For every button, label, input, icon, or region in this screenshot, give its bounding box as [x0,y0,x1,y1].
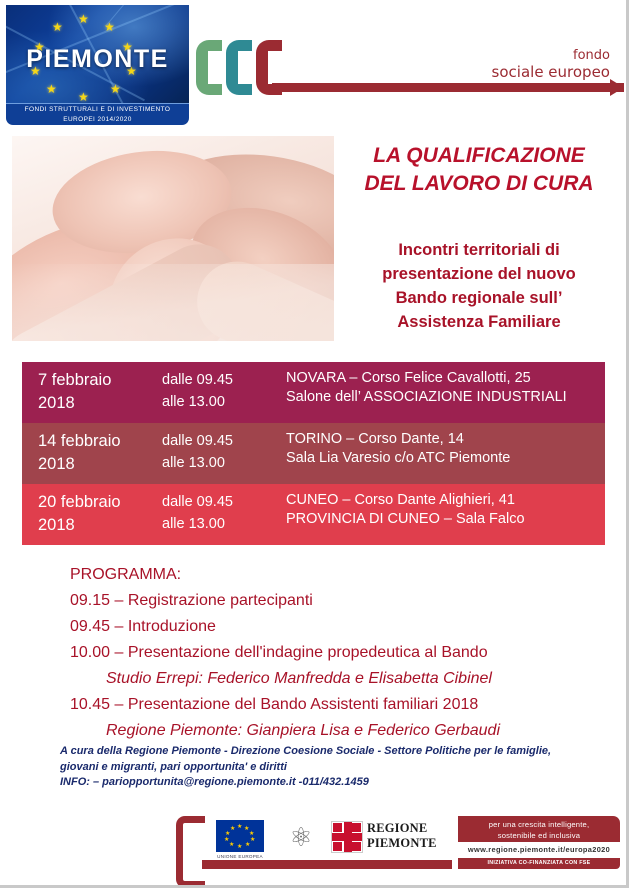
subtitle-line-3: Bando regionale sull’ [338,286,620,310]
date-line-1: 7 febbraio [38,369,162,392]
row-place-cell: NOVARA – Corso Felice Cavallotti, 25 Sal… [286,369,605,407]
subtitle-line-1: Incontri territoriali di [338,238,620,262]
fse-bar [272,83,624,92]
subtitle-line-4: Assistenza Familiare [338,310,620,334]
row-date-cell: 7 febbraio 2018 [22,369,162,415]
regione-line-1: REGIONE [367,821,437,836]
eu-flag-caption: UNIONE EUROPEA [212,854,268,859]
c-shape-teal [226,40,252,95]
date-line-1: 14 febbraio [38,430,162,453]
row-time-cell: dalle 09.45 alle 13.00 [162,430,286,474]
caption-line-1: FONDI STRUTTURALI E DI INVESTIMENTO [6,105,189,115]
poster-page: ★ ★ ★ ★ ★ ★ ★ ★ ★ ★ PIEMONTE FONDI STRUT… [0,0,629,888]
program-section: PROGRAMMA: 09.15 – Registrazione parteci… [70,562,615,744]
place-line-2: Salone dell’ ASSOCIAZIONE INDUSTRIALI [286,388,597,407]
european-union-flag-icon: ★ ★ ★ ★ ★ ★ ★ ★ ★ ★ [216,820,264,852]
title-line-2: DEL LAVORO DI CURA [338,170,620,198]
credits-line-2: giovani e migranti, pari opportunita' e … [60,760,590,776]
regione-line-2: PIEMONTE [367,836,437,851]
page-subtitle: Incontri territoriali di presentazione d… [338,238,620,334]
europa2020-slogan: per una crescita intelligente, sostenibi… [458,816,620,842]
table-row: 20 febbraio 2018 dalle 09.45 alle 13.00 … [22,484,605,545]
place-line-1: TORINO – Corso Dante, 14 [286,430,597,449]
c-shape-green [196,40,222,95]
page-title: LA QUALIFICAZIONE DEL LAVORO DI CURA [338,142,620,198]
header-logo-band: ★ ★ ★ ★ ★ ★ ★ ★ ★ ★ PIEMONTE FONDI STRUT… [0,0,620,128]
fse-line-1: fondo [492,48,610,64]
place-line-1: NOVARA – Corso Felice Cavallotti, 25 [286,369,597,388]
credits-line-1: A cura della Regione Piemonte - Direzion… [60,744,590,760]
credits-block: A cura della Regione Piemonte - Direzion… [60,744,590,791]
program-item-4-speakers: Regione Piemonte: Gianpiera Lisa e Feder… [70,718,615,744]
time-line-1: dalle 09.45 [162,430,286,452]
piemonte-wordmark: PIEMONTE [6,45,189,74]
piemonte-logo-caption: FONDI STRUTTURALI E DI INVESTIMENTO EURO… [6,103,189,125]
program-item-1: 09.15 – Registrazione partecipanti [70,588,615,614]
program-item-3: 10.00 – Presentazione dell'indagine prop… [70,640,615,666]
row-place-cell: CUNEO – Corso Dante Alighieri, 41 PROVIN… [286,491,605,529]
date-line-2: 2018 [38,514,162,537]
europa2020-url[interactable]: www.regione.piemonte.it/europa2020 [458,844,620,855]
time-line-1: dalle 09.45 [162,491,286,513]
program-item-4: 10.45 – Presentazione del Bando Assisten… [70,692,615,718]
piemonte-cross-icon [331,821,363,853]
date-line-1: 20 febbraio [38,491,162,514]
time-line-2: alle 13.00 [162,452,286,474]
subtitle-line-2: presentazione del nuovo [338,262,620,286]
row-time-cell: dalle 09.45 alle 13.00 [162,491,286,535]
footer-bracket-shape [176,816,205,888]
title-line-1: LA QUALIFICAZIONE [338,142,620,170]
place-line-1: CUNEO – Corso Dante Alighieri, 41 [286,491,597,510]
fondo-sociale-europeo-logo: fondo sociale europeo [196,40,616,110]
date-line-2: 2018 [38,453,162,476]
cofinancing-banner: INIZIATIVA CO-FINANZIATA CON FSE [458,858,620,869]
place-line-2: PROVINCIA DI CUNEO – Sala Falco [286,510,597,529]
program-item-2: 09.45 – Introduzione [70,614,615,640]
row-date-cell: 14 febbraio 2018 [22,430,162,476]
italian-republic-emblem-icon: ⚛ [286,820,316,854]
program-heading: PROGRAMMA: [70,562,615,588]
slogan-line-1: per una crescita intelligente, [458,819,620,830]
credits-contact-line: INFO: – pariopportunita@regione.piemonte… [60,775,590,791]
row-time-cell: dalle 09.45 alle 13.00 [162,369,286,413]
fse-wordmark: fondo sociale europeo [492,48,610,80]
piemonte-eu-logo: ★ ★ ★ ★ ★ ★ ★ ★ ★ ★ PIEMONTE [6,5,189,115]
schedule-table: 7 febbraio 2018 dalle 09.45 alle 13.00 N… [22,362,605,545]
time-line-1: dalle 09.45 [162,369,286,391]
row-date-cell: 20 febbraio 2018 [22,491,162,537]
table-row: 14 febbraio 2018 dalle 09.45 alle 13.00 … [22,423,605,484]
fse-line-2: sociale europeo [492,64,610,80]
regione-piemonte-wordmark: REGIONE PIEMONTE [367,821,437,851]
date-line-2: 2018 [38,392,162,415]
caption-line-2: EUROPEI 2014/2020 [6,115,189,125]
hands-photo [12,136,334,341]
place-line-2: Sala Lia Varesio c/o ATC Piemonte [286,449,597,468]
time-line-2: alle 13.00 [162,391,286,413]
row-place-cell: TORINO – Corso Dante, 14 Sala Lia Varesi… [286,430,605,468]
footer-bar-left [202,860,452,869]
table-row: 7 febbraio 2018 dalle 09.45 alle 13.00 N… [22,362,605,423]
slogan-line-2: sostenibile ed inclusiva [458,830,620,841]
regione-piemonte-logo: REGIONE PIEMONTE [331,820,443,854]
program-item-3-speakers: Studio Errepi: Federico Manfredda e Elis… [70,666,615,692]
fse-bar-arrow [610,79,624,96]
time-line-2: alle 13.00 [162,513,286,535]
footer-logo-bar: ★ ★ ★ ★ ★ ★ ★ ★ ★ ★ UNIONE EUROPEA ⚛ REG… [176,814,620,878]
